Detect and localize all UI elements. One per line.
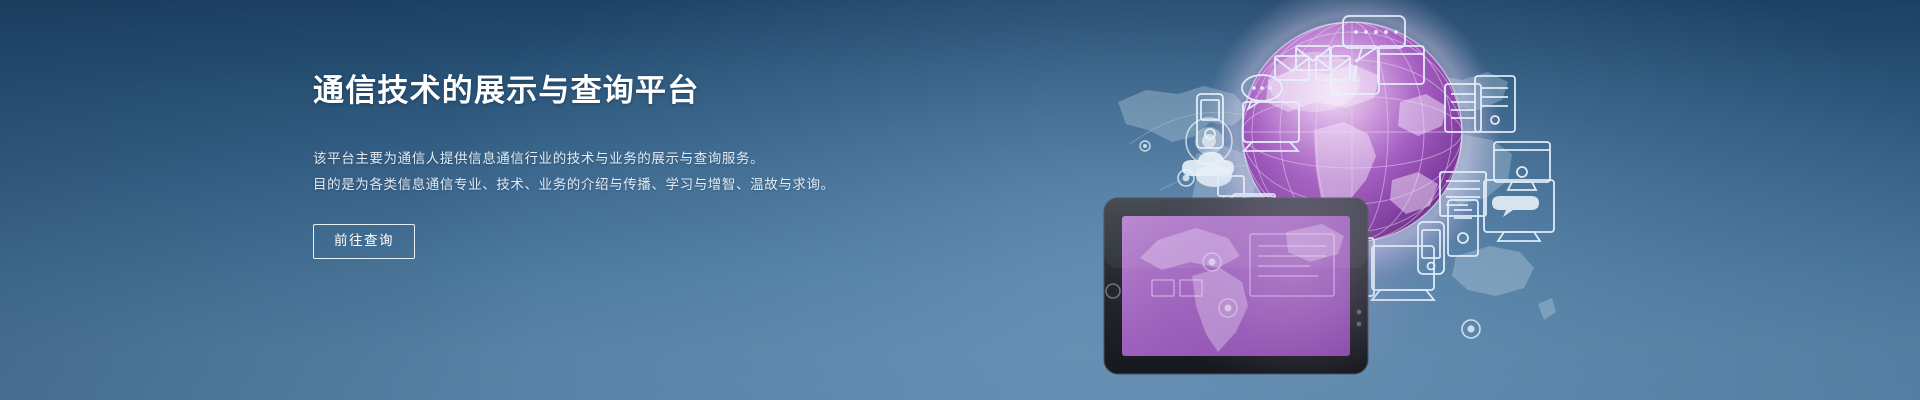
global-communication-illustration: i <box>1100 0 1570 400</box>
page-title: 通信技术的展示与查询平台 <box>313 74 953 108</box>
banner-copy: 通信技术的展示与查询平台 该平台主要为通信人提供信息通信行业的技术与业务的展示与… <box>313 74 953 259</box>
description-line-1: 该平台主要为通信人提供信息通信行业的技术与业务的展示与查询服务。 <box>313 146 953 172</box>
tablet-device <box>1104 198 1368 374</box>
svg-text:i: i <box>1350 52 1359 89</box>
go-to-query-button[interactable]: 前往查询 <box>313 224 415 259</box>
hero-banner: i <box>0 0 1920 400</box>
banner-description: 该平台主要为通信人提供信息通信行业的技术与业务的展示与查询服务。 目的是为各类信… <box>313 146 953 198</box>
description-line-2: 目的是为各类信息通信专业、技术、业务的介绍与传播、学习与增智、温故与求询。 <box>313 172 953 198</box>
